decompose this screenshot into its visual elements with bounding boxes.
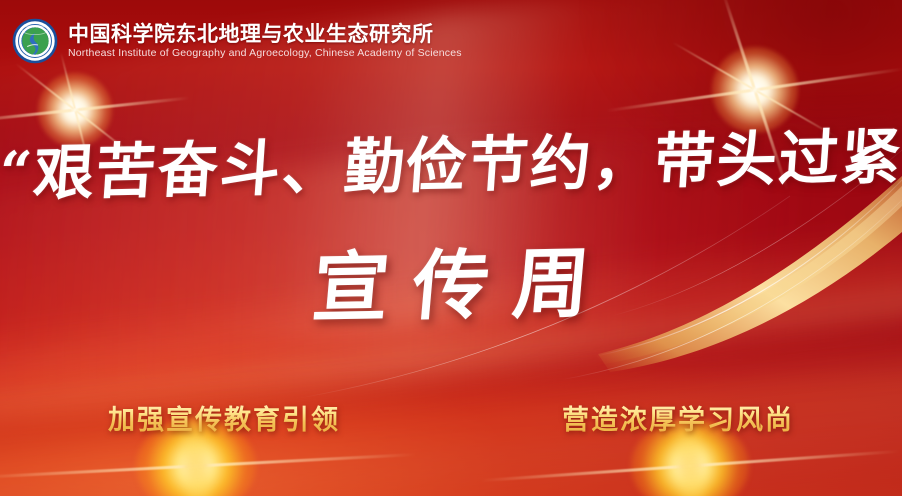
main-headline: “艰苦奋斗、勤俭节约，带头过紧日子”: [0, 127, 902, 204]
slogan-right: 营造浓厚学习风尚: [562, 398, 794, 437]
organization-header: 中国科学院东北地理与农业生态研究所 Northeast Institute of…: [12, 18, 462, 64]
headline-open-quote: “: [0, 139, 36, 206]
sub-headline: 宣传周: [0, 238, 902, 334]
organization-name-en: Northeast Institute of Geography and Agr…: [68, 47, 462, 59]
institute-emblem-icon: [12, 18, 58, 64]
promotional-banner: 中国科学院东北地理与农业生态研究所 Northeast Institute of…: [0, 0, 902, 496]
organization-name-cn: 中国科学院东北地理与农业生态研究所: [68, 23, 462, 47]
slogan-left: 加强宣传教育引领: [108, 398, 340, 437]
slogan-row: 加强宣传教育引领 营造浓厚学习风尚: [0, 398, 902, 437]
